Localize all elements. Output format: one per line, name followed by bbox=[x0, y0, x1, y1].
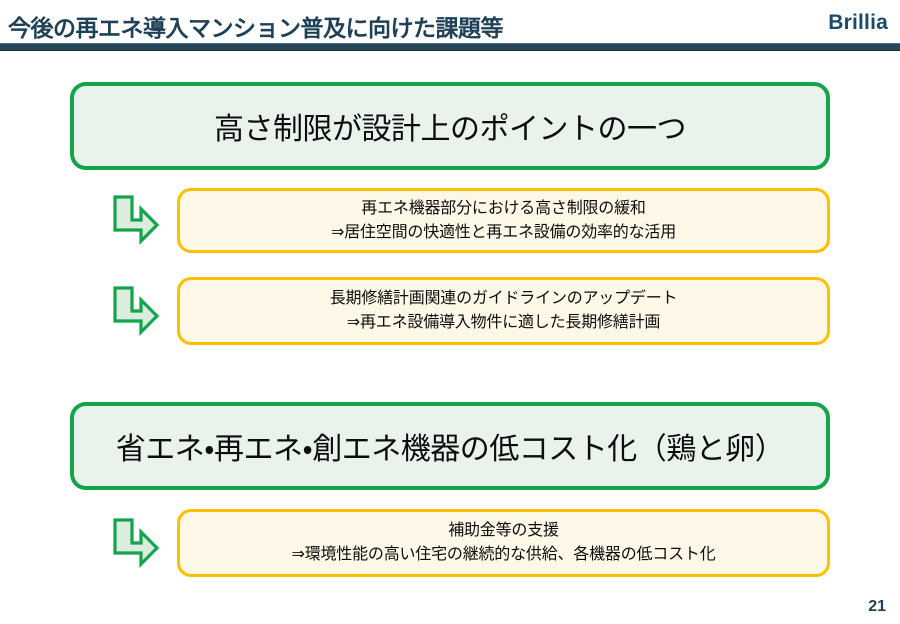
section-headline-text: 省エネ・再エネ・創エネ機器の低コスト化（鶏と卵） bbox=[116, 424, 784, 468]
detail-box-3: 補助金等の支援 ⇒環境性能の高い住宅の継続的な供給、各機器の低コスト化 bbox=[177, 509, 830, 577]
brand-logo: Brillia bbox=[828, 11, 888, 35]
section-headline-text: 高さ制限が設計上のポイントの一つ bbox=[214, 104, 686, 148]
detail-line-primary: 長期修繕計画関連のガイドラインのアップデート bbox=[330, 287, 678, 311]
detail-line-primary: 再エネ機器部分における高さ制限の緩和 bbox=[361, 197, 645, 221]
bent-arrow-right-icon bbox=[112, 285, 160, 337]
header-divider bbox=[0, 43, 900, 51]
section-headline-box-2: 省エネ・再エネ・創エネ機器の低コスト化（鶏と卵） bbox=[70, 402, 830, 490]
page-title: 今後の再エネ導入マンション普及に向けた課題等 bbox=[8, 9, 503, 43]
detail-line-secondary: ⇒居住空間の快適性と再エネ設備の効率的な活用 bbox=[331, 221, 676, 245]
bent-arrow-right-icon bbox=[112, 517, 160, 569]
detail-box-1: 再エネ機器部分における高さ制限の緩和 ⇒居住空間の快適性と再エネ設備の効率的な活… bbox=[177, 188, 830, 253]
detail-line-secondary: ⇒再エネ設備導入物件に適した長期修繕計画 bbox=[347, 311, 660, 335]
page-number: 21 bbox=[868, 598, 886, 616]
bent-arrow-right-icon bbox=[112, 194, 160, 246]
detail-box-2: 長期修繕計画関連のガイドラインのアップデート ⇒再エネ設備導入物件に適した長期修… bbox=[177, 277, 830, 345]
section-headline-box-1: 高さ制限が設計上のポイントの一つ bbox=[70, 82, 830, 170]
slide-canvas: 今後の再エネ導入マンション普及に向けた課題等 Brillia 高さ制限が設計上の… bbox=[0, 0, 900, 624]
detail-line-primary: 補助金等の支援 bbox=[448, 519, 559, 543]
detail-line-secondary: ⇒環境性能の高い住宅の継続的な供給、各機器の低コスト化 bbox=[291, 543, 715, 567]
